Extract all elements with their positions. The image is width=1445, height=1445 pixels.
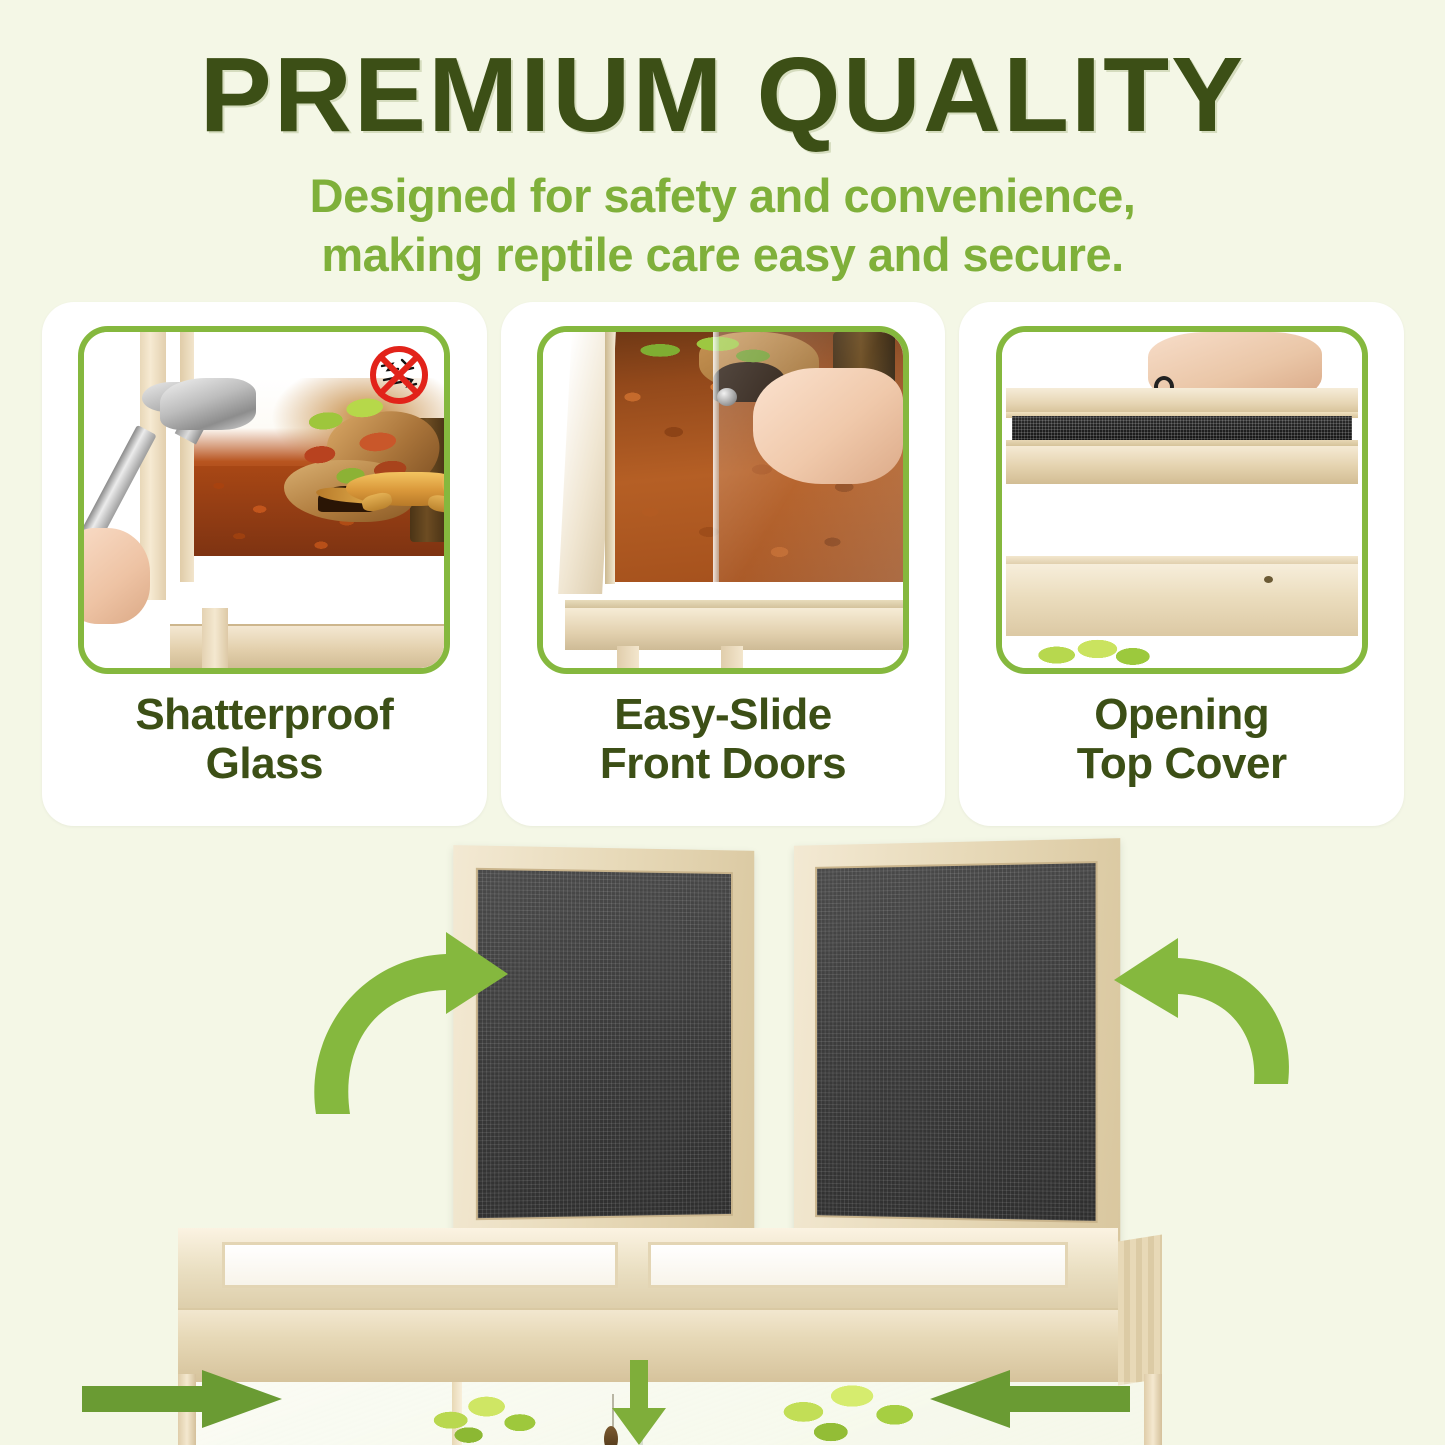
subtitle-line-1: Designed for safety and convenience, [0, 167, 1445, 226]
feature-photo-shatterproof-glass [84, 332, 444, 668]
arrow-curve-to-left-panel [296, 918, 566, 1124]
mesh-screen-fabric [815, 861, 1098, 1223]
feature-label-line-2: Front Doors [600, 739, 846, 788]
feature-label-line-1: Shatterproof [135, 690, 393, 739]
page-subtitle: Designed for safety and convenience, mak… [0, 167, 1445, 285]
mesh-screen-panel-right [794, 838, 1120, 1246]
feature-card-opening-top-cover: Opening Top Cover [959, 302, 1404, 826]
top-opening-right [648, 1242, 1068, 1288]
artificial-plant [1024, 634, 1160, 668]
glass-door-edge [713, 332, 719, 582]
feature-photo-frame-shatterproof-glass [78, 326, 450, 674]
header: PREMIUM QUALITY Designed for safety and … [0, 0, 1445, 285]
terrarium-base-rail [565, 608, 903, 650]
feature-photo-opening-top-cover [1002, 332, 1362, 668]
arrow-pointing-down [608, 1360, 670, 1445]
hand-opening-door [753, 368, 903, 484]
terrarium-leg [617, 646, 639, 668]
door-knob-icon [717, 388, 737, 406]
no-crack-icon [368, 344, 430, 406]
arrow-pointing-right [82, 1368, 282, 1430]
feature-card-shatterproof-glass: Shatterproof Glass [42, 302, 487, 826]
feature-label-shatterproof-glass: Shatterproof Glass [135, 690, 393, 789]
top-opening-left [222, 1242, 618, 1288]
feature-photo-easy-slide-front-doors [543, 332, 903, 668]
feature-label-easy-slide-front-doors: Easy-Slide Front Doors [600, 690, 846, 789]
feature-photo-frame-opening-top-cover [996, 326, 1368, 674]
feature-photo-frame-easy-slide-front-doors [537, 326, 909, 674]
feature-label-line-1: Opening [1077, 690, 1287, 739]
arrow-pointing-left [930, 1368, 1130, 1430]
top-cover-mesh-screen [1012, 416, 1352, 442]
artificial-plant-left [420, 1383, 548, 1445]
hero-product-image [0, 826, 1445, 1445]
feature-cards-row: Shatterproof Glass [42, 302, 1404, 826]
terrarium-leg-right [1144, 1374, 1162, 1445]
bearded-dragon [316, 462, 444, 522]
feature-label-opening-top-cover: Opening Top Cover [1077, 690, 1287, 789]
terrarium-lower-rail [1006, 564, 1358, 636]
terrarium-leg [721, 646, 743, 668]
feature-card-easy-slide-front-doors: Easy-Slide Front Doors [501, 302, 946, 826]
terrarium-side-slats [1118, 1235, 1162, 1386]
page-title: PREMIUM QUALITY [0, 40, 1445, 151]
top-cover-wood-frame [1006, 388, 1358, 414]
feature-label-line-2: Top Cover [1077, 739, 1287, 788]
feature-label-line-2: Glass [135, 739, 393, 788]
screw-icon [1264, 576, 1273, 583]
arrow-curve-to-right-panel [1082, 928, 1308, 1088]
subtitle-line-2: making reptile care easy and secure. [0, 226, 1445, 285]
feature-label-line-1: Easy-Slide [600, 690, 846, 739]
terrarium-top-frame [178, 1228, 1118, 1312]
terrarium-top-rail [1006, 446, 1358, 484]
artificial-plant-right [770, 1373, 922, 1445]
